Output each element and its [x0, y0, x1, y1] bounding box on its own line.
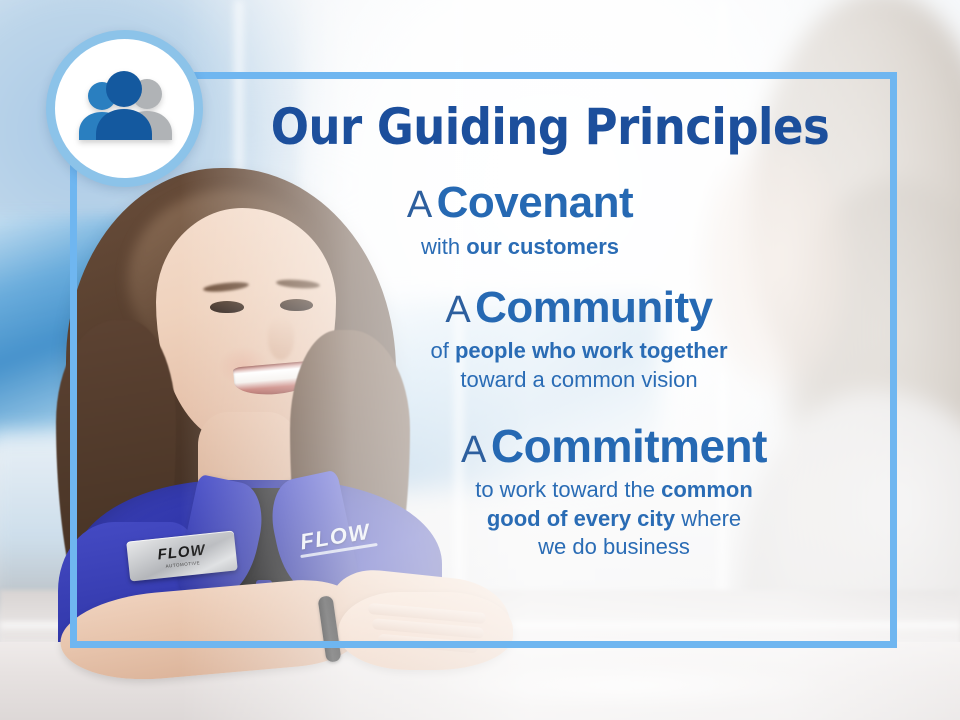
principle-block-commitment: A Commitment to work toward the commongo…	[200, 422, 900, 561]
principle-subtext: to work toward the commongood of every c…	[328, 476, 900, 560]
group-of-people-icon	[46, 30, 203, 187]
table-sheen	[420, 662, 840, 710]
principle-subline: to work toward the common	[328, 476, 900, 504]
principle-subline: of people who work together	[258, 337, 900, 365]
principle-block-community: A Community of people who work togethert…	[200, 285, 900, 394]
principle-subline: we do business	[328, 533, 900, 561]
principle-article: A	[445, 289, 470, 331]
principles-copy: Our Guiding Principles A Covenant with o…	[200, 74, 900, 644]
principle-heading: A Covenant	[200, 180, 840, 227]
principle-subtext: with our customers	[200, 233, 840, 261]
page-title: Our Guiding Principles	[200, 102, 900, 152]
principle-block-covenant: A Covenant with our customers	[200, 180, 900, 261]
principle-subtext: of people who work togethertoward a comm…	[258, 337, 900, 393]
principle-article: A	[461, 429, 486, 471]
principle-heading: A Community	[258, 285, 900, 332]
guiding-principles-graphic: FLOW AUTOMOTIVE FLOW O	[0, 0, 960, 720]
principle-subline: good of every city where	[328, 505, 900, 533]
principle-subline: toward a common vision	[258, 366, 900, 394]
principle-heading: A Commitment	[328, 422, 900, 471]
principle-word: Covenant	[437, 178, 633, 227]
principle-subline: with our customers	[200, 233, 840, 261]
principle-article: A	[407, 184, 432, 226]
principle-word: Commitment	[491, 420, 767, 472]
principle-word: Community	[475, 283, 713, 332]
